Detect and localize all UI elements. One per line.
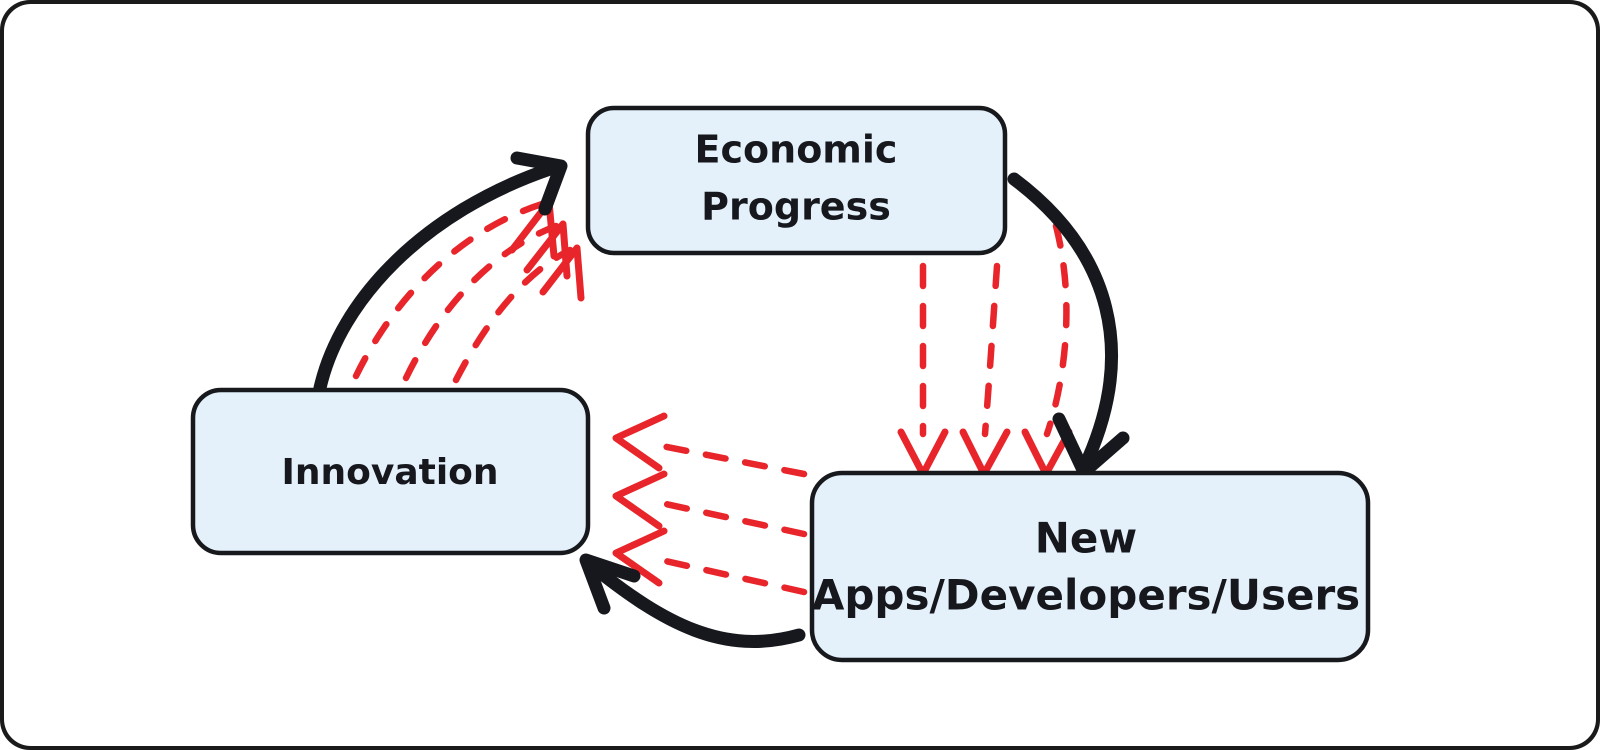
solid-arrow-innovation-to-economic-progress bbox=[320, 158, 561, 388]
feedback-arrows-new-apps-to-innovation bbox=[616, 416, 804, 592]
node-new-apps-label-line2: Apps/Developers/Users bbox=[812, 571, 1360, 620]
dashed-arrow-line bbox=[985, 266, 997, 434]
node-economic-progress-label-line1: Economic bbox=[695, 128, 898, 172]
feedback-arrows-economic-progress-to-new-apps bbox=[901, 226, 1069, 474]
dashed-arrow-line bbox=[652, 444, 804, 474]
node-innovation[interactable]: Innovation bbox=[193, 390, 588, 553]
node-innovation-label: Innovation bbox=[281, 452, 498, 493]
dashed-arrowhead bbox=[963, 432, 1007, 474]
dashed-arrow-line bbox=[356, 204, 542, 376]
node-economic-progress-label-line2: Progress bbox=[701, 185, 891, 229]
node-new-apps-label-line1: New bbox=[1035, 514, 1137, 563]
solid-arrow-new-apps-to-innovation bbox=[586, 560, 799, 641]
diagram-svg: Economic Progress Innovation New Apps/De… bbox=[4, 4, 1596, 746]
dashed-arrowhead bbox=[616, 416, 664, 468]
node-new-apps-developers-users[interactable]: New Apps/Developers/Users bbox=[812, 473, 1368, 660]
node-new-apps-developers-users-box[interactable] bbox=[812, 473, 1368, 660]
diagram-canvas: Economic Progress Innovation New Apps/De… bbox=[4, 4, 1596, 746]
solid-arrow-line bbox=[320, 169, 550, 388]
feedback-arrows-innovation-to-economic-progress bbox=[356, 202, 581, 380]
dashed-arrow-line bbox=[652, 558, 804, 592]
dashed-arrow-line bbox=[406, 226, 556, 378]
dashed-arrow-line bbox=[456, 250, 570, 380]
dashed-arrowhead bbox=[616, 474, 664, 526]
dashed-arrow-line bbox=[1047, 226, 1066, 434]
node-economic-progress[interactable]: Economic Progress bbox=[588, 108, 1005, 253]
dashed-arrowhead bbox=[901, 432, 945, 474]
dashed-arrow-line bbox=[652, 501, 804, 534]
diagram-frame: Economic Progress Innovation New Apps/De… bbox=[0, 0, 1600, 750]
